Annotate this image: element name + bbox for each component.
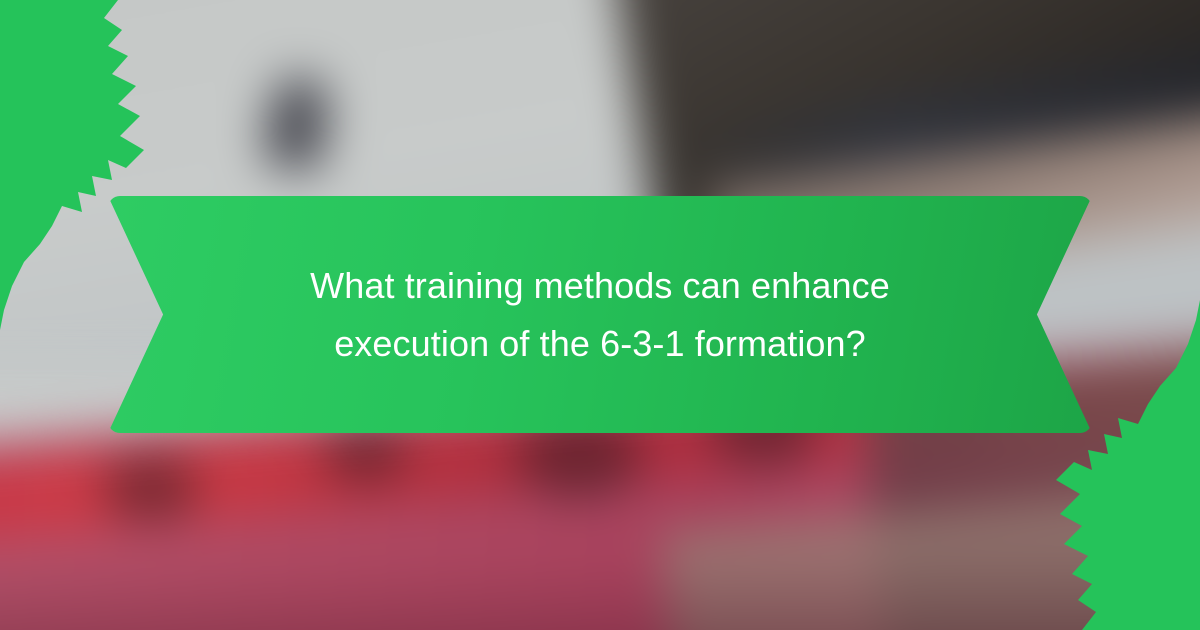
social-card: What training methods can enhance execut… <box>0 0 1200 630</box>
headline-line-1: What training methods can enhance <box>310 258 890 314</box>
headline-text-block: What training methods can enhance execut… <box>108 196 1092 433</box>
headline-banner: What training methods can enhance execut… <box>108 196 1092 433</box>
background-crowd-blob <box>102 453 199 522</box>
headline-line-2: execution of the 6-3-1 formation? <box>334 316 866 372</box>
